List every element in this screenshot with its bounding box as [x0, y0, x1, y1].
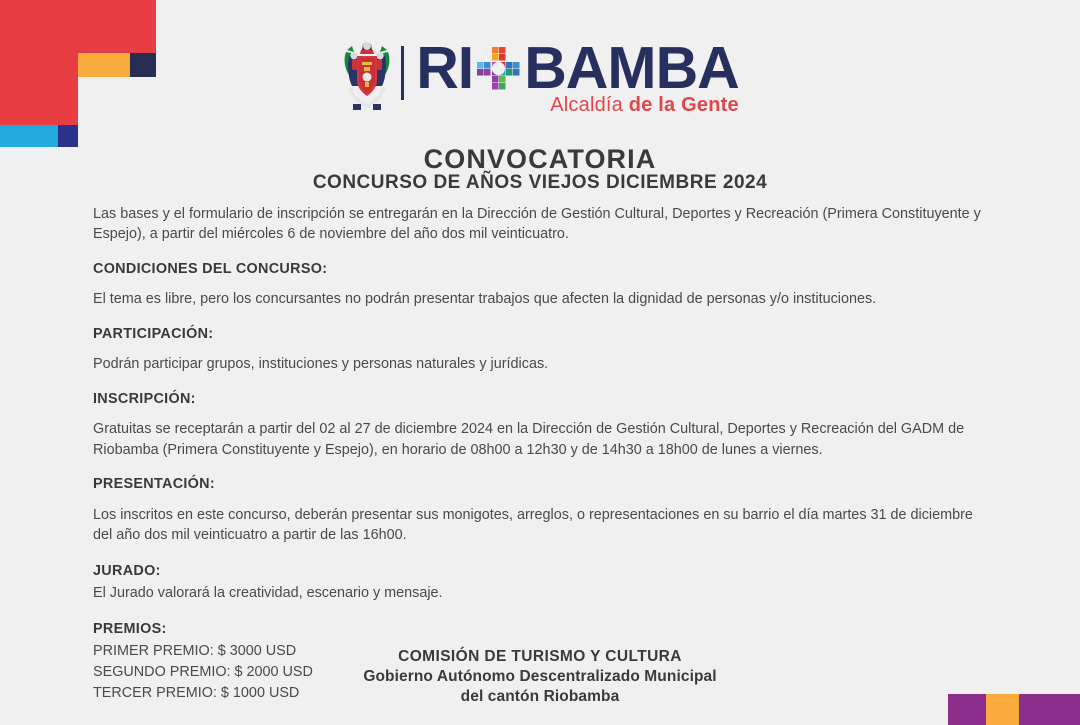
section-heading-presentacion: PRESENTACIÓN:	[93, 474, 994, 494]
footer-commission: COMISIÓN DE TURISMO Y CULTURA	[0, 648, 1080, 666]
section-heading-premios: PREMIOS:	[93, 619, 994, 639]
page-title: CONVOCATORIA	[0, 144, 1080, 175]
page-subtitle: CONCURSO DE AÑOS VIEJOS DICIEMBRE 2024	[0, 172, 1080, 194]
section-text-condiciones: El tema es libre, pero los concursantes …	[93, 289, 994, 309]
mosaic-cross-icon	[476, 46, 521, 91]
wordmark-ri: RI	[416, 40, 473, 96]
document-footer: COMISIÓN DE TURISMO Y CULTURA Gobierno A…	[0, 648, 1080, 706]
intro-paragraph: Las bases y el formulario de inscripción…	[93, 204, 994, 245]
section-text-inscripcion: Gratuitas se receptarán a partir del 02 …	[93, 419, 994, 460]
logo-tagline: Alcaldía de la Gente	[416, 94, 739, 117]
section-jurado: JURADO: El Jurado valorará la creativida…	[93, 561, 994, 603]
section-heading-condiciones: CONDICIONES DEL CONCURSO:	[93, 259, 994, 279]
section-heading-participacion: PARTICIPACIÓN:	[93, 324, 994, 344]
wordmark-bamba: BAMBA	[524, 40, 739, 96]
tagline-bold: de la Gente	[629, 94, 739, 116]
logo-divider	[401, 46, 404, 100]
section-heading-jurado: JURADO:	[93, 561, 994, 581]
section-text-jurado: El Jurado valorará la creatividad, escen…	[93, 583, 994, 603]
section-heading-inscripcion: INSCRIPCIÓN:	[93, 389, 994, 409]
footer-government: Gobierno Autónomo Descentralizado Munici…	[0, 668, 1080, 686]
section-inscripcion: INSCRIPCIÓN: Gratuitas se receptarán a p…	[93, 389, 994, 460]
document-body: Las bases y el formulario de inscripción…	[93, 204, 994, 703]
coat-of-arms-icon	[341, 40, 393, 116]
section-text-presentacion: Los inscritos en este concurso, deberán …	[93, 505, 994, 546]
tagline-light: Alcaldía	[550, 94, 623, 116]
logo-wordmark: RI	[416, 40, 739, 96]
section-participacion: PARTICIPACIÓN: Podrán participar grupos,…	[93, 324, 994, 375]
riobamba-logo: RI	[0, 40, 1080, 117]
footer-canton: del cantón Riobamba	[0, 688, 1080, 706]
section-presentacion: PRESENTACIÓN: Los inscritos en este conc…	[93, 474, 994, 545]
section-text-participacion: Podrán participar grupos, instituciones …	[93, 354, 994, 374]
section-condiciones: CONDICIONES DEL CONCURSO: El tema es lib…	[93, 259, 994, 310]
